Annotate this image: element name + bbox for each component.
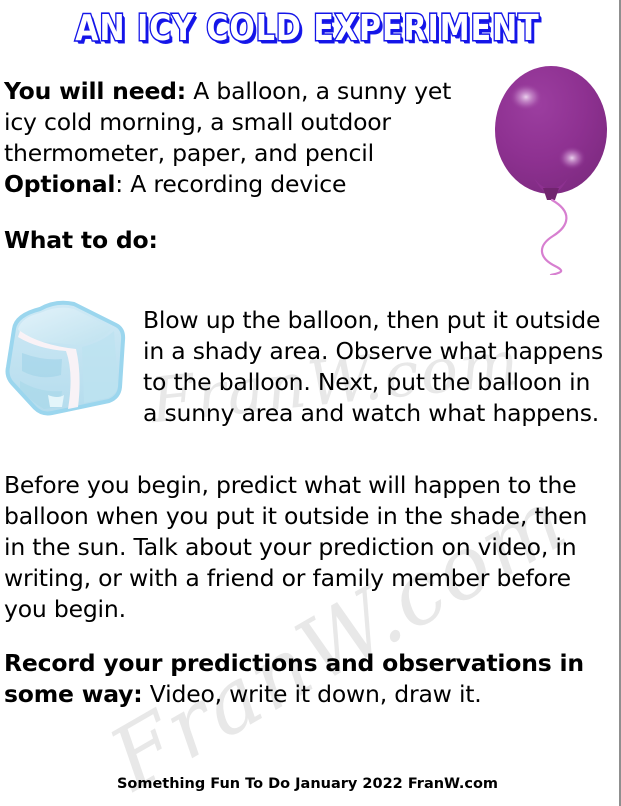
blow-up-paragraph: Blow up the balloon, then put it outside… — [143, 305, 605, 429]
blow-up-text: Blow up the balloon, then put it outside… — [143, 306, 603, 427]
footer-credit: Something Fun To Do January 2022 FranW.c… — [0, 776, 615, 792]
balloon-highlight-upper — [509, 83, 543, 111]
what-to-do-heading-container: What to do: — [4, 225, 304, 256]
balloon-body — [495, 66, 607, 194]
ice-cube-illustration — [4, 295, 129, 417]
record-paragraph: Record your predictions and observations… — [4, 648, 604, 710]
title-container: AN ICY COLD EXPERIMENT — [0, 8, 615, 43]
balloon-knot — [543, 188, 559, 200]
balloon-illustration — [489, 60, 614, 275]
record-body: Video, write it down, draw it. — [143, 680, 482, 708]
what-to-do-heading: What to do: — [4, 226, 158, 254]
balloon-highlight-lower — [558, 146, 586, 170]
balloon-string — [542, 200, 566, 275]
materials-label: You will need: — [4, 77, 186, 105]
worksheet-page: FranW.com FranW.com AN ICY COLD EXPERIME… — [0, 0, 621, 806]
page-title: AN ICY COLD EXPERIMENT — [75, 8, 539, 49]
optional-body: : A recording device — [115, 170, 346, 198]
predict-paragraph: Before you begin, predict what will happ… — [4, 470, 604, 625]
optional-label: Optional — [4, 170, 115, 198]
materials-paragraph: You will need: A balloon, a sunny yet ic… — [4, 76, 474, 200]
predict-text: Before you begin, predict what will happ… — [4, 471, 587, 623]
